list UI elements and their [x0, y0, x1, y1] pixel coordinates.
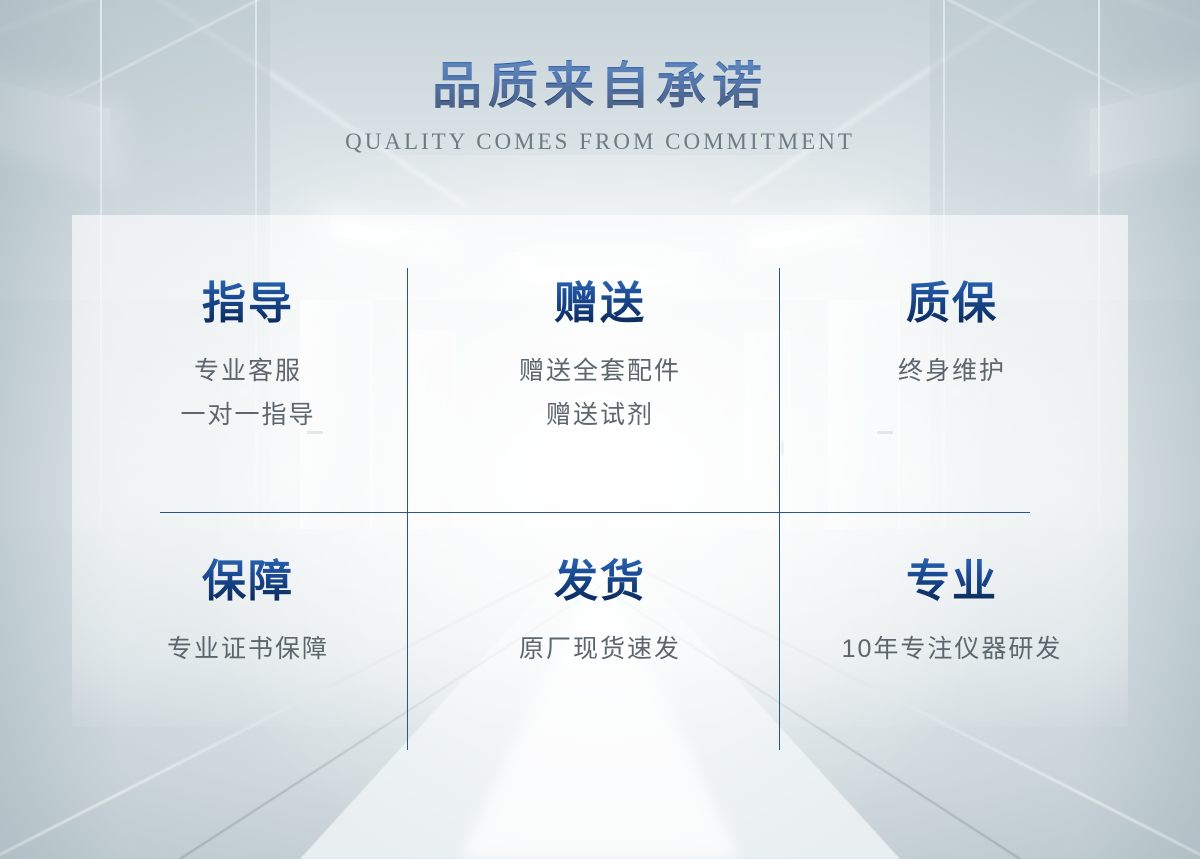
feature-title: 质保 [776, 280, 1128, 328]
feature-description-line: 一对一指导 [72, 394, 424, 438]
feature-title: 赠送 [424, 280, 776, 328]
feature-description-line: 原厂现货速发 [424, 628, 776, 672]
feature-description: 原厂现货速发 [424, 628, 776, 672]
header: 品质来自承诺 QUALITY COMES FROM COMMITMENT [0, 56, 1200, 155]
feature-title: 保障 [72, 558, 424, 606]
feature-cell-assurance: 保障 专业证书保障 [72, 558, 424, 672]
feature-title: 指导 [72, 280, 424, 328]
feature-title: 专业 [776, 558, 1128, 606]
feature-cell-shipping: 发货 原厂现货速发 [424, 558, 776, 672]
promo-banner: 品质来自承诺 QUALITY COMES FROM COMMITMENT 指导 … [0, 0, 1200, 859]
feature-description: 终身维护 [776, 350, 1128, 394]
feature-title: 发货 [424, 558, 776, 606]
feature-grid: 指导 专业客服 一对一指导 赠送 赠送全套配件 赠送试剂 质保 终身维护 保障 … [72, 258, 1128, 758]
feature-description-line: 专业客服 [72, 350, 424, 394]
feature-description: 专业证书保障 [72, 628, 424, 672]
page-subtitle: QUALITY COMES FROM COMMITMENT [0, 129, 1200, 155]
feature-description: 10年专注仪器研发 [776, 628, 1128, 672]
feature-description-line: 10年专注仪器研发 [776, 628, 1128, 672]
page-title: 品质来自承诺 [0, 56, 1200, 115]
feature-cell-gift: 赠送 赠送全套配件 赠送试剂 [424, 280, 776, 438]
feature-description-line: 终身维护 [776, 350, 1128, 394]
feature-cell-guidance: 指导 专业客服 一对一指导 [72, 280, 424, 438]
feature-description: 专业客服 一对一指导 [72, 350, 424, 438]
feature-description: 赠送全套配件 赠送试剂 [424, 350, 776, 438]
feature-description-line: 专业证书保障 [72, 628, 424, 672]
feature-cell-warranty: 质保 终身维护 [776, 280, 1128, 394]
feature-cell-expertise: 专业 10年专注仪器研发 [776, 558, 1128, 672]
feature-description-line: 赠送全套配件 [424, 350, 776, 394]
feature-description-line: 赠送试剂 [424, 394, 776, 438]
